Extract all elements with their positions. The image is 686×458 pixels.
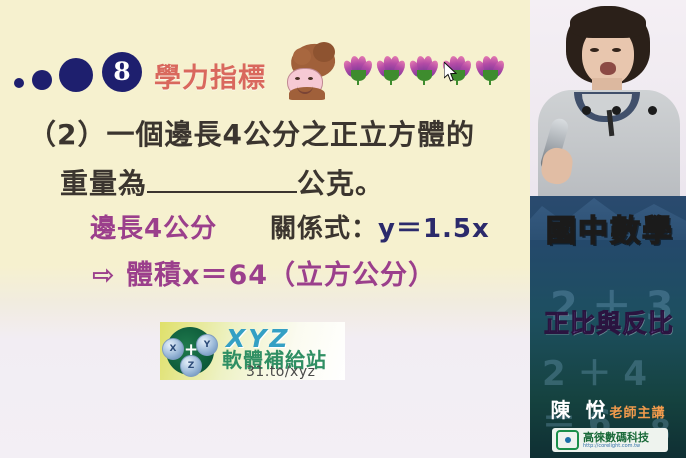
bullet-dot-1 bbox=[14, 78, 24, 88]
relation-label: 關係式： bbox=[270, 214, 378, 244]
flower-icon bbox=[411, 56, 437, 86]
presenter-figure bbox=[530, 0, 686, 196]
presenter-video bbox=[530, 0, 686, 196]
flower-icon bbox=[345, 56, 371, 86]
flower-icon bbox=[378, 56, 404, 86]
lesson-screen: 8 學力指標 bbox=[0, 0, 686, 458]
presenter-button bbox=[648, 106, 657, 115]
presenter-fringe bbox=[570, 8, 646, 38]
xyz-ball-y: Y bbox=[196, 334, 218, 356]
xyz-plus-icon: + bbox=[184, 342, 198, 359]
presenter-role: 老師主講 bbox=[609, 406, 665, 421]
company-logo: 高徠數碼科技 http://corelight.com.tw bbox=[552, 428, 668, 452]
company-logo-mark-icon bbox=[556, 430, 579, 450]
section-number-badge: 8 bbox=[102, 52, 142, 92]
company-logo-text: 高徠數碼科技 bbox=[583, 432, 649, 443]
slide-area: 8 學力指標 bbox=[0, 0, 530, 458]
cartoon-girl-icon bbox=[285, 44, 337, 98]
xyz-watermark: X Y Z + XYZ 軟體補給站 31.to/xyz bbox=[160, 322, 345, 380]
presenter-button bbox=[612, 106, 621, 115]
section-number-label: 8 bbox=[113, 59, 130, 84]
bullet-dot-3 bbox=[59, 58, 93, 92]
course-title: 國中數學 bbox=[534, 206, 686, 250]
course-subtitle: 正比與反比 bbox=[532, 304, 686, 340]
bullet-dot-2 bbox=[32, 70, 52, 90]
presenter-button bbox=[582, 106, 591, 115]
section-title: 學力指標 bbox=[154, 56, 266, 95]
company-logo-url: http://corelight.com.tw bbox=[583, 444, 649, 449]
question-line-2-suffix: 公克。 bbox=[297, 167, 384, 200]
course-title-board: 2 ＋ 3 2 ＋ 4 ＝ 6 8 國中數學 正比與反比 陳 悅老師主講 高徠數… bbox=[530, 196, 686, 458]
presenter-credit: 陳 悅老師主講 bbox=[530, 394, 686, 423]
mouse-cursor-icon bbox=[444, 62, 457, 82]
relation-formula: y＝1.5x bbox=[378, 214, 490, 244]
question-line-1: （2）一個邊長4公分之正立方體的 bbox=[28, 113, 475, 153]
answer-volume-line: ⇨ 體積x＝64（立方公分） bbox=[92, 253, 436, 292]
xyz-url-text: 31.to/xyz bbox=[246, 364, 315, 380]
answer-blank-underline bbox=[147, 191, 297, 193]
presenter-name: 陳 悅 bbox=[551, 398, 610, 422]
flower-icon bbox=[477, 56, 503, 86]
answer-relation-group: 關係式：y＝1.5x bbox=[270, 208, 490, 245]
flower-decoration-row bbox=[345, 56, 505, 96]
video-panel: 2 ＋ 3 2 ＋ 4 ＝ 6 8 國中數學 正比與反比 陳 悅老師主講 高徠數… bbox=[530, 0, 686, 458]
question-line-2-prefix: 重量為 bbox=[60, 167, 147, 200]
xyz-ball-x: X bbox=[162, 338, 184, 360]
answer-given-length: 邊長4公分 bbox=[90, 208, 217, 245]
question-line-2: 重量為公克。 bbox=[60, 162, 384, 202]
